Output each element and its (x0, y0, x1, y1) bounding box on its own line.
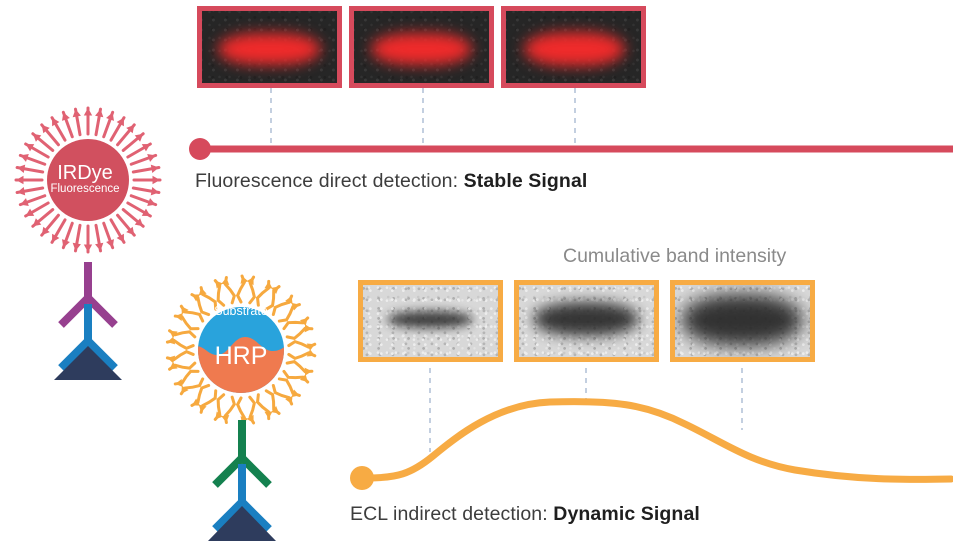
fluorescent-band (524, 32, 625, 66)
irdye-molecule (5, 100, 185, 260)
fluorescence-caption-bold: Stable Signal (464, 170, 588, 192)
ecl-panel-1 (358, 280, 503, 362)
band-area (354, 11, 489, 83)
fluorescence-caption: Fluorescence direct detection: Stable Si… (195, 170, 587, 193)
signal-curve-dynamic (367, 402, 951, 480)
fluorescence-antibody-stack (48, 262, 168, 382)
band-area (506, 11, 641, 83)
ecl-signal-curve (345, 392, 953, 502)
fluorescence-panel-2 (349, 6, 494, 88)
ecl-panel-3 (670, 280, 815, 362)
ecl-panel-2 (514, 280, 659, 362)
diagram-canvas: Fluorescence direct detection: Stable Si… (0, 0, 953, 549)
signal-curve-start-dot (350, 466, 374, 490)
ecl-band (533, 302, 639, 336)
ecl-caption-bold: Dynamic Signal (553, 503, 700, 525)
hrp-circle (193, 303, 295, 405)
cumulative-band-intensity-label: Cumulative band intensity (563, 245, 786, 268)
ecl-band (387, 311, 473, 328)
hrp-molecule (163, 275, 323, 430)
fluorescence-caption-prefix: Fluorescence direct detection: (195, 170, 464, 192)
signal-line-start-dot (189, 138, 211, 160)
irdye-circle (47, 139, 129, 221)
fluorescence-signal-line (186, 132, 953, 168)
ecl-band (681, 294, 803, 346)
fluorescent-band (371, 33, 472, 65)
fluorescent-band (218, 33, 321, 65)
ecl-caption: ECL indirect detection: Dynamic Signal (350, 503, 700, 526)
band-area (675, 285, 810, 357)
band-area (363, 285, 498, 357)
ecl-antibody-stack (200, 420, 320, 546)
fluorescence-panel-3 (501, 6, 646, 88)
fluorescence-panel-1 (197, 6, 342, 88)
band-area (519, 285, 654, 357)
band-area (202, 11, 337, 83)
ecl-caption-prefix: ECL indirect detection: (350, 503, 553, 525)
